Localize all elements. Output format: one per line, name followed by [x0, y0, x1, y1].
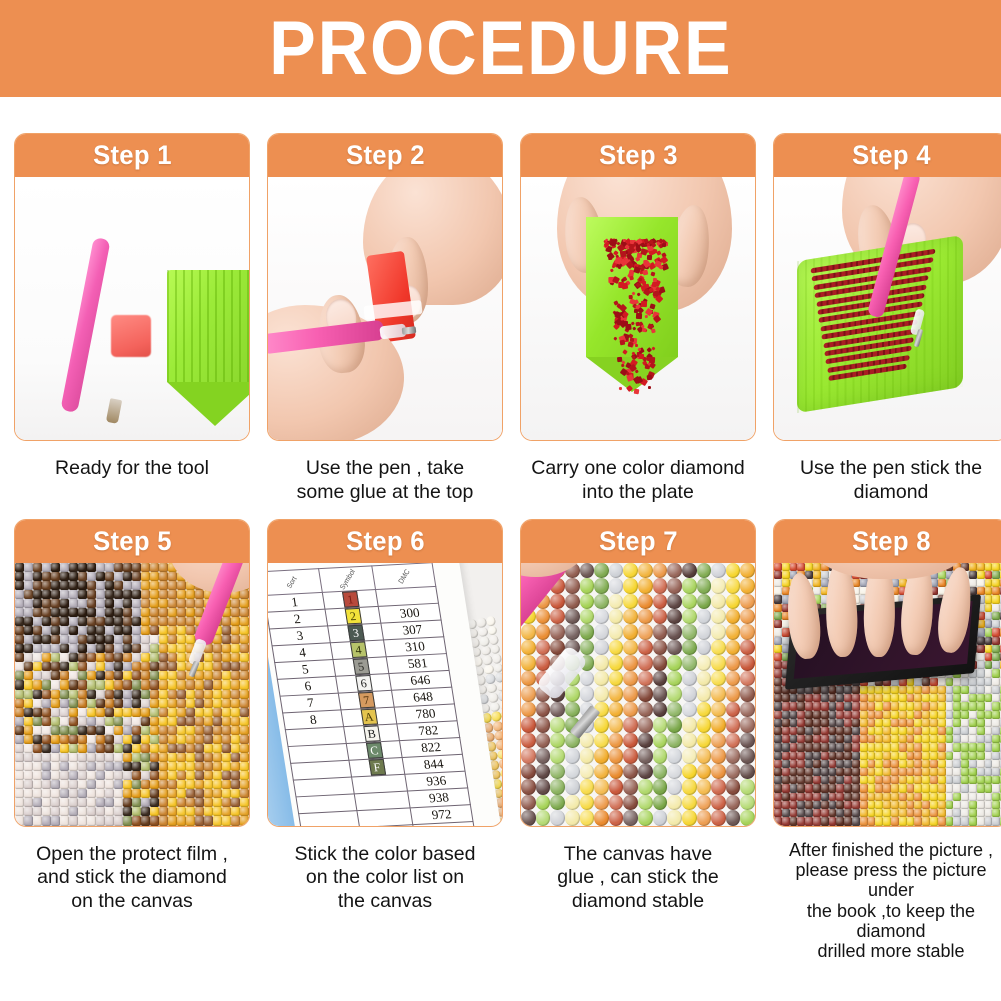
symbol-swatch: 3 [347, 624, 365, 641]
diamond-bead [633, 388, 639, 394]
cell-sort [299, 810, 360, 825]
step-cell-6: Step 6 Sort Symbol [267, 519, 503, 962]
step-header-2: Step 2 [268, 134, 502, 177]
step-header-3: Step 3 [521, 134, 755, 177]
step-card-6[interactable]: Step 6 Sort Symbol [267, 519, 503, 827]
symbol-swatch: 7 [358, 691, 376, 708]
diamond-bead [650, 328, 655, 333]
step-card-2[interactable]: Step 2 [267, 133, 503, 441]
symbol-swatch: 4 [350, 641, 368, 658]
diamond-bead [614, 336, 618, 340]
diamond-bead [629, 276, 633, 280]
symbol-swatch: B [363, 725, 381, 742]
step-header-6: Step 6 [268, 520, 502, 563]
step-header-label-7: Step 7 [599, 526, 678, 557]
step-header-label-3: Step 3 [599, 140, 678, 171]
diamond-bead [634, 369, 638, 373]
step-cell-4: Step 4 [773, 133, 1001, 505]
step-cell-2: Step 2 [267, 133, 503, 505]
page-title: PROCEDURE [269, 11, 732, 87]
page-banner: PROCEDURE [0, 0, 1001, 97]
diamond-bead [641, 301, 648, 308]
diamond-bead [653, 315, 662, 324]
step-header-7: Step 7 [521, 520, 755, 563]
diamond-bead [635, 344, 638, 347]
diamond-bead [639, 354, 644, 359]
step-card-5[interactable]: Step 5 [14, 519, 250, 827]
diamond-bead [616, 320, 620, 324]
step-card-4[interactable]: Step 4 [773, 133, 1001, 441]
step-image-7 [521, 563, 755, 826]
step-cell-5: Step 5 Open the protect film , and stick… [14, 519, 250, 962]
diamond-bead [637, 307, 644, 314]
step-caption-4: Use the pen stick the diamond [773, 441, 1001, 505]
diamond-bead [652, 347, 656, 351]
step-header-label-2: Step 2 [346, 140, 425, 171]
step-caption-8: After finished the picture , please pres… [773, 827, 1001, 962]
step-header-label-1: Step 1 [93, 140, 172, 171]
steps-row-top: Step 1 Ready fo [14, 133, 987, 505]
diamond-bead [625, 324, 632, 331]
diamond-bead [656, 251, 661, 256]
step-image-3 [521, 177, 755, 440]
step-image-4 [774, 177, 1001, 440]
step-cell-8: Step 8 [773, 519, 1001, 962]
diamond-bead [621, 361, 625, 365]
step-card-8[interactable]: Step 8 [773, 519, 1001, 827]
step-card-3[interactable]: Step 3 [520, 133, 756, 441]
diamond-bead [641, 328, 646, 333]
diamond-bead [636, 313, 643, 320]
step-header-4: Step 4 [774, 134, 1001, 177]
step-image-8 [774, 563, 1001, 826]
symbol-swatch: C [366, 742, 384, 759]
step-card-7[interactable]: Step 7 [520, 519, 756, 827]
table-header-row: Sort Symbol DMC [268, 563, 436, 595]
symbol-swatch: F [368, 759, 386, 776]
step-header-5: Step 5 [15, 520, 249, 563]
step-header-label-8: Step 8 [852, 526, 931, 557]
step-cell-7: Step 7 The canvas have glue , can stick … [520, 519, 756, 962]
diamond-bead [619, 387, 622, 390]
step-header-label-4: Step 4 [852, 140, 931, 171]
step-header-1: Step 1 [15, 134, 249, 177]
step-cell-1: Step 1 Ready fo [14, 133, 250, 505]
step-caption-2: Use the pen , take some glue at the top [267, 441, 503, 505]
step-image-2 [268, 177, 502, 440]
diamond-bead [610, 268, 615, 273]
diamond-bead [633, 309, 637, 313]
step-image-6: Sort Symbol DMC 112230033307443105558166… [268, 563, 502, 826]
glue-square-icon [111, 315, 151, 357]
step-caption-5: Open the protect film , and stick the di… [14, 827, 250, 914]
step-image-5 [15, 563, 249, 826]
diamond-bead [629, 294, 633, 298]
diamond-bead [608, 256, 613, 261]
step-caption-7: The canvas have glue , can stick the dia… [520, 827, 756, 914]
step-card-1[interactable]: Step 1 [14, 133, 250, 441]
step-caption-1: Ready for the tool [14, 441, 250, 481]
diamond-bead [619, 340, 625, 346]
pen-tip-icon [106, 398, 122, 424]
step-header-label-5: Step 5 [93, 526, 172, 557]
tray-icon [167, 270, 249, 425]
step-header-8: Step 8 [774, 520, 1001, 563]
steps-row-bottom: Step 5 Open the protect film , and stick… [14, 519, 987, 962]
infographic-page: PROCEDURE Step 1 [0, 0, 1001, 1001]
diamond-bead [638, 277, 641, 280]
pen-icon [60, 237, 110, 413]
symbol-swatch: 5 [352, 658, 370, 675]
step-cell-3: Step 3 [520, 133, 756, 505]
diamond-bead [646, 375, 652, 381]
symbol-swatch: 2 [344, 607, 362, 624]
step-image-1 [15, 177, 249, 440]
cell-symbol [357, 807, 413, 825]
step-caption-3: Carry one color diamond into the plate [520, 441, 756, 505]
diamond-bead [627, 341, 633, 347]
diamond-bead [622, 349, 628, 355]
diamond-bead [647, 357, 651, 361]
diamond-bead [636, 292, 640, 296]
diamond-bead [632, 327, 636, 331]
step-header-label-6: Step 6 [346, 526, 425, 557]
diamond-bead [655, 295, 664, 304]
steps-grid: Step 1 Ready fo [0, 97, 1001, 962]
diamond-bead [618, 282, 624, 288]
diamonds-pile [596, 235, 672, 395]
symbol-swatch: A [360, 708, 378, 725]
diamond-bead [648, 386, 651, 389]
diamond-bead [651, 271, 656, 276]
tray-icon [586, 217, 678, 392]
diamond-bead [642, 281, 646, 285]
diamond-bead [626, 385, 633, 392]
step-caption-6: Stick the color based on the color list … [267, 827, 503, 914]
symbol-swatch: 6 [355, 675, 373, 692]
hand-icon [784, 563, 984, 645]
